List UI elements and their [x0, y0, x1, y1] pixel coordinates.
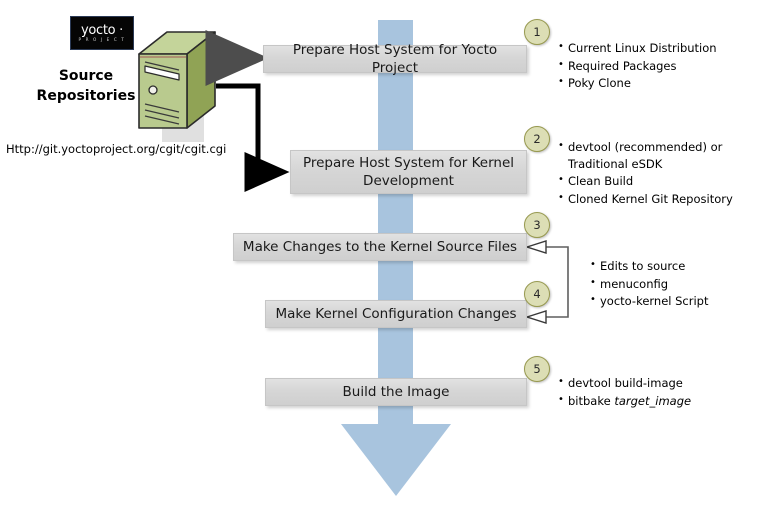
diagram-canvas: yocto · P R O J E C T Source Repositorie…	[0, 0, 769, 517]
list-item: devtool build-image	[568, 375, 691, 392]
arrow-server-to-step2	[216, 86, 282, 172]
arrowhead-into-step4-icon	[527, 311, 546, 323]
step-number-badge-5: 5	[524, 356, 550, 382]
source-repository-url: Http://git.yoctoproject.org/cgit/cgit.cg…	[6, 142, 226, 156]
bullet-list-step5: devtool build-image bitbake target_image	[556, 375, 691, 410]
step-number-badge-2: 2	[524, 126, 550, 152]
list-item: Cloned Kernel Git Repository	[568, 191, 733, 208]
flow-arrowhead-icon	[341, 424, 451, 496]
step-number-badge-3: 3	[524, 212, 550, 238]
bullet-list-step3-step4: Edits to source menuconfig yocto-kernel …	[588, 258, 709, 311]
bitbake-command-prefix: bitbake	[568, 394, 614, 408]
list-item: devtool (recommended) or Traditional eSD…	[568, 139, 723, 172]
list-item: bitbake target_image	[568, 393, 691, 410]
source-label-line1: Source	[28, 66, 144, 86]
source-label-line2: Repositories	[28, 86, 144, 106]
arrowhead-into-step3-icon	[527, 241, 546, 253]
bullet-list-step2: devtool (recommended) or Traditional eSD…	[556, 139, 733, 209]
process-box-step5[interactable]: Build the Image	[265, 378, 527, 406]
bullet-list-step1: Current Linux Distribution Required Pack…	[556, 40, 717, 93]
server-tower-icon	[135, 28, 217, 143]
process-box-step1[interactable]: Prepare Host System for Yocto Project	[263, 45, 527, 73]
yocto-logo-word: yocto ·	[81, 24, 123, 37]
source-repositories-label: Source Repositories	[28, 66, 144, 107]
bitbake-target-image-param: target_image	[614, 394, 691, 408]
flow-band	[378, 20, 413, 426]
process-box-step4[interactable]: Make Kernel Configuration Changes	[265, 300, 527, 328]
step-number-badge-1: 1	[524, 19, 550, 45]
process-box-step3[interactable]: Make Changes to the Kernel Source Files	[233, 233, 527, 261]
yocto-project-logo: yocto · P R O J E C T	[70, 16, 134, 50]
step-number-badge-4: 4	[524, 281, 550, 307]
list-item: Poky Clone	[568, 75, 717, 92]
list-item: yocto-kernel Script	[600, 293, 709, 310]
list-item: Clean Build	[568, 173, 733, 190]
list-item: Current Linux Distribution	[568, 40, 717, 57]
list-item: Required Packages	[568, 58, 717, 75]
yocto-logo-subword: P R O J E C T	[79, 38, 126, 42]
list-item: Edits to source	[600, 258, 709, 275]
list-item: menuconfig	[600, 276, 709, 293]
process-box-step2[interactable]: Prepare Host System for Kernel Developme…	[290, 150, 527, 194]
connector-step3-step4	[543, 247, 568, 317]
